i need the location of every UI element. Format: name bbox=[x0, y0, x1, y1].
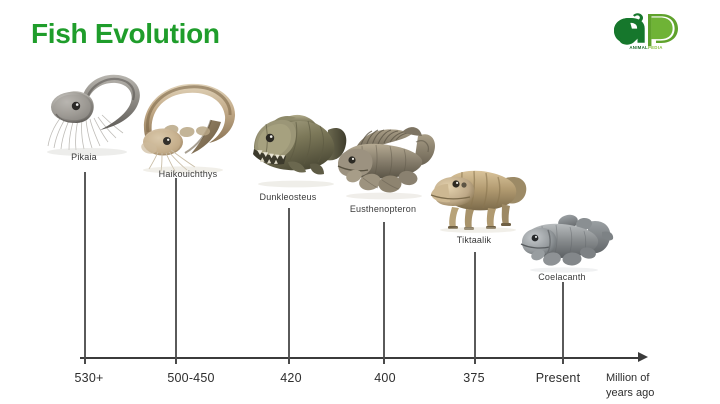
species-label-coelacanth: Coelacanth bbox=[538, 272, 586, 282]
species-label-tiktaalik: Tiktaalik bbox=[457, 235, 491, 245]
coelacanth-illustration bbox=[518, 212, 618, 274]
timeline-stem-haikouichthys bbox=[175, 178, 177, 357]
logo-wordmark-part1: ANIMAL bbox=[629, 45, 648, 50]
timeline-stem-dunkleosteus bbox=[288, 208, 290, 357]
species-label-haikouichthys: Haikouichthys bbox=[159, 169, 218, 179]
axis-unit-line2: years ago bbox=[606, 386, 686, 401]
axis-tick-label: 375 bbox=[463, 371, 484, 385]
slide-canvas: Fish Evolution ANIMALPEDIA 530+ 500-450 … bbox=[0, 0, 720, 404]
axis-tick-label: 500-450 bbox=[167, 371, 214, 385]
axis-tick-label: 530+ bbox=[75, 371, 104, 385]
timeline-stem-pikaia bbox=[84, 172, 86, 357]
logo-wordmark-part2: PEDIA bbox=[648, 45, 663, 50]
logo-wordmark: ANIMALPEDIA bbox=[607, 45, 685, 50]
species-coelacanth[interactable]: Coelacanth bbox=[518, 212, 618, 292]
haikouichthys-illustration bbox=[125, 74, 245, 174]
species-label-dunkleosteus: Dunkleosteus bbox=[260, 192, 317, 202]
axis-unit-label: Million of years ago bbox=[606, 371, 686, 401]
page-title: Fish Evolution bbox=[31, 18, 220, 50]
species-haikouichthys[interactable]: Haikouichthys bbox=[125, 74, 245, 189]
species-eusthenopteron[interactable]: Eusthenopteron bbox=[332, 118, 442, 223]
timeline-axis bbox=[80, 357, 642, 359]
species-label-eusthenopteron: Eusthenopteron bbox=[350, 204, 416, 214]
timeline-stem-coelacanth bbox=[562, 282, 564, 357]
species-label-pikaia: Pikaia bbox=[71, 152, 97, 162]
axis-unit-line1: Million of bbox=[606, 371, 686, 386]
timeline-stem-tiktaalik bbox=[474, 252, 476, 357]
axis-tick-label: 420 bbox=[280, 371, 301, 385]
animalpedia-logo: ANIMALPEDIA bbox=[607, 12, 685, 60]
axis-tick-label: 400 bbox=[374, 371, 395, 385]
timeline-arrow-icon bbox=[638, 352, 648, 362]
axis-tick-label: Present bbox=[536, 371, 580, 385]
timeline-stem-eusthenopteron bbox=[383, 222, 385, 357]
logo-monogram-icon bbox=[607, 12, 685, 46]
